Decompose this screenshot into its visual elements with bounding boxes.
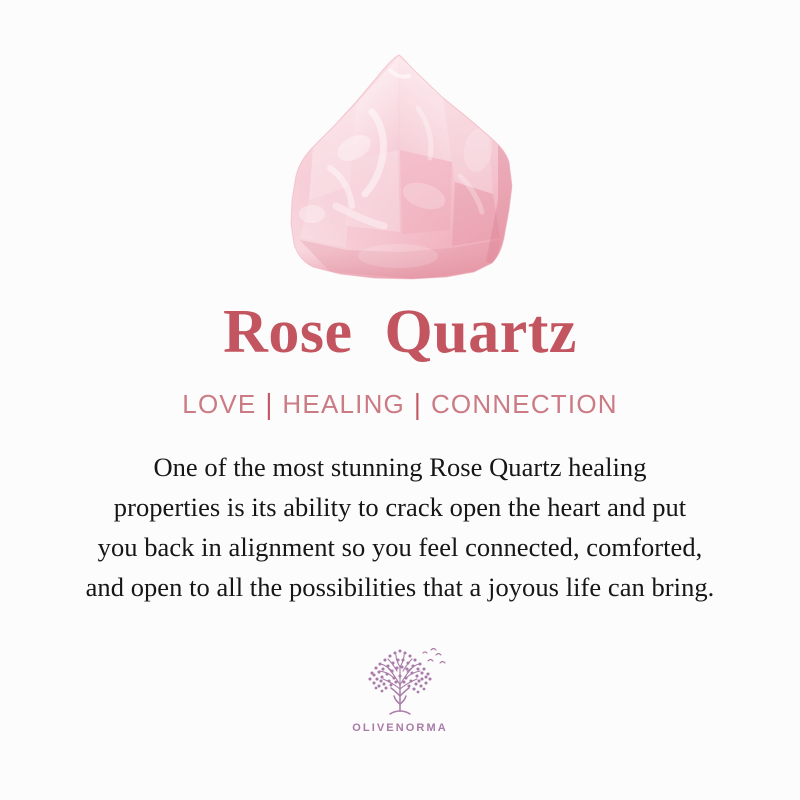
rose-quartz-crystal-icon	[0, 0, 800, 300]
product-info-card: Rose Quartz LOVE | HEALING | CONNECTION …	[0, 0, 800, 800]
page-title: Rose Quartz	[0, 300, 800, 365]
tagline-separator-1: |	[256, 390, 282, 419]
brand-logo: OLIVENORMA	[0, 641, 800, 734]
description-line: you back in alignment so you feel connec…	[30, 527, 770, 567]
description-line: properties is its ability to crack open …	[30, 487, 770, 527]
tagline-separator-2: |	[405, 390, 431, 419]
hero-image-container	[0, 0, 800, 300]
description-line: One of the most stunning Rose Quartz hea…	[30, 447, 770, 487]
description-line: and open to all the possibilities that a…	[30, 567, 770, 607]
tagline-keyword-healing: HEALING	[282, 391, 405, 417]
crystal-body	[280, 40, 530, 290]
tagline-keyword-connection: CONNECTION	[431, 391, 618, 417]
tree-of-life-logo-icon	[352, 641, 448, 719]
tagline-keyword-love: LOVE	[182, 391, 256, 417]
brand-name-label: OLIVENORMA	[352, 722, 448, 734]
text-content: Rose Quartz LOVE | HEALING | CONNECTION …	[0, 300, 800, 607]
description-paragraph: One of the most stunning Rose Quartz hea…	[30, 447, 770, 607]
tagline: LOVE | HEALING | CONNECTION	[0, 391, 800, 417]
